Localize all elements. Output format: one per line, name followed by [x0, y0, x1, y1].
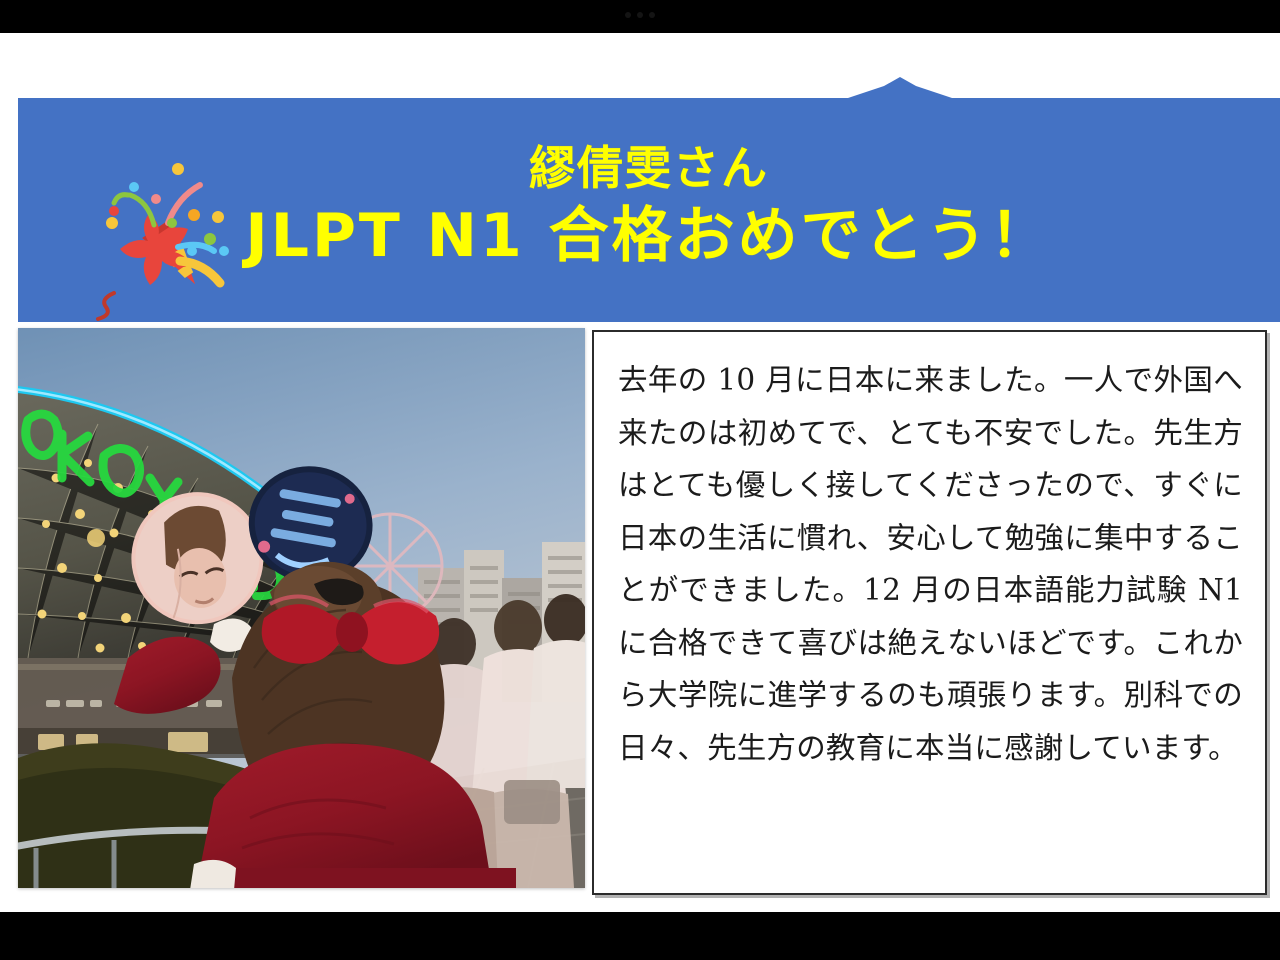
slide-canvas: 繆倩雯さん JLPT N1 合格おめでとう！	[0, 33, 1280, 912]
testimonial-body: 去年の 10 月に日本に来ました。一人で外国へ来たのは初めてで、とても不安でした…	[618, 354, 1243, 774]
bottom-letterbox-bar	[0, 912, 1280, 960]
student-photo	[18, 328, 585, 888]
congratulations-headline: JLPT N1 合格おめでとう！	[245, 204, 1052, 269]
testimonial-textbox: 去年の 10 月に日本に来ました。一人で外国へ来たのは初めてで、とても不安でした…	[592, 330, 1267, 895]
student-name-line: 繆倩雯さん	[529, 144, 769, 194]
slideshow-viewer: 繆倩雯さん JLPT N1 合格おめでとう！	[0, 0, 1280, 960]
dot-1	[625, 12, 631, 18]
dot-3	[649, 12, 655, 18]
photo-illustration	[18, 328, 585, 888]
more-options-dots-icon[interactable]	[625, 12, 655, 18]
party-popper-icon	[62, 151, 242, 321]
dot-2	[637, 12, 643, 18]
